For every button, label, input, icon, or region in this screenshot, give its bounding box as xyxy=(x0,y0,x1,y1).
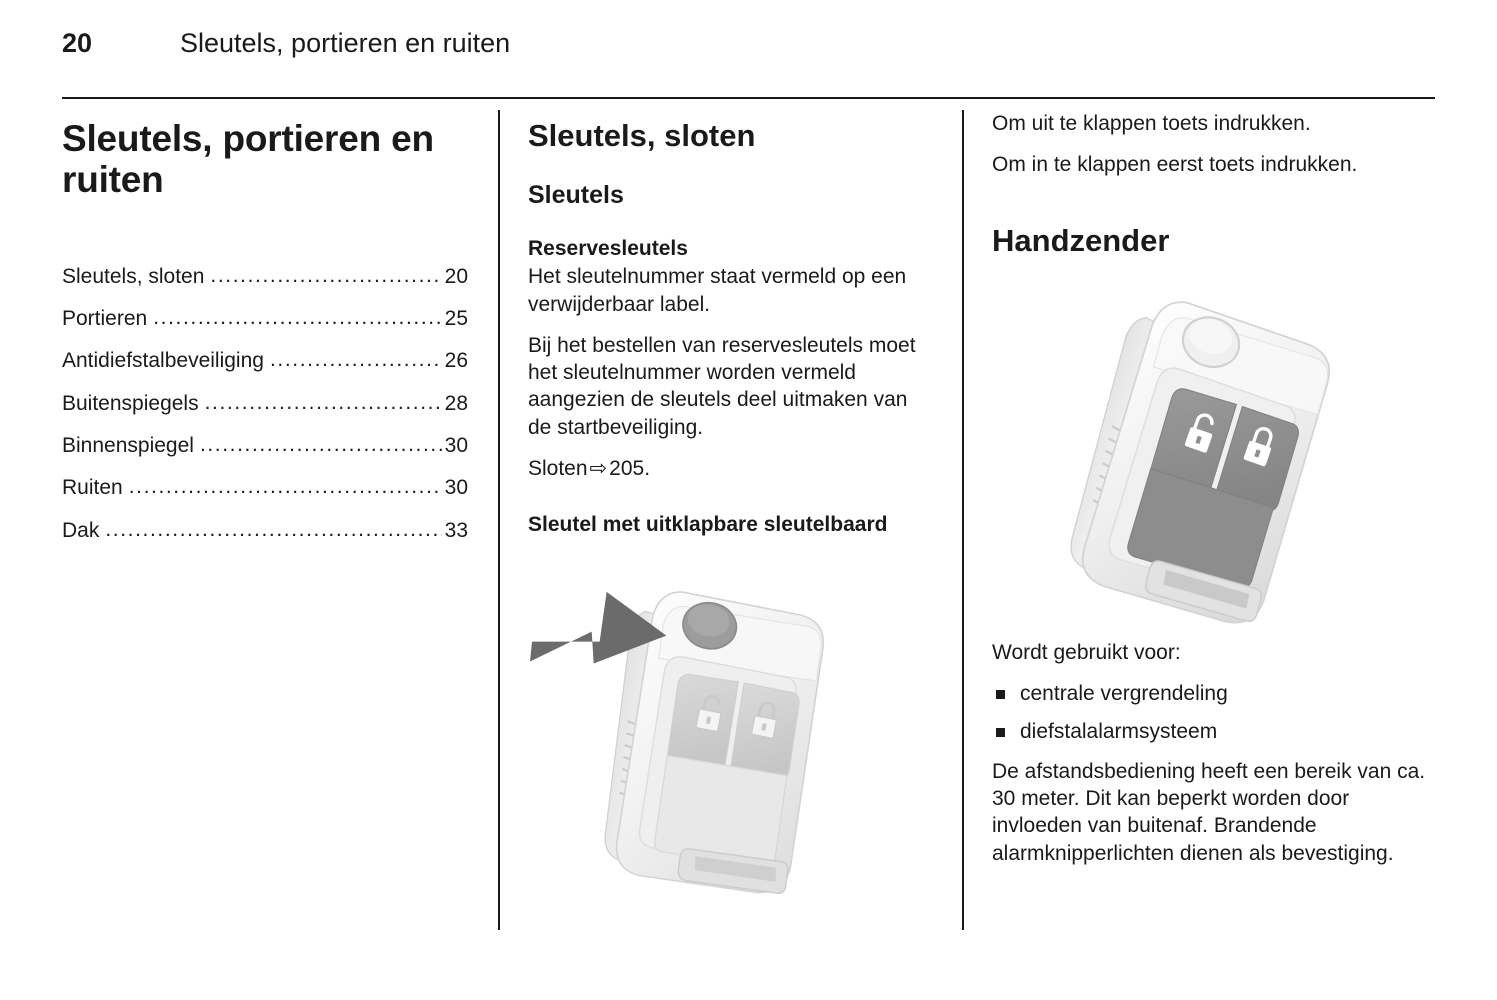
header-rule xyxy=(62,97,1435,99)
heading-sleutels: Sleutels xyxy=(528,180,932,210)
list-item-label: diefstalalarmsysteem xyxy=(1020,720,1217,743)
toc-page: 28 xyxy=(445,390,468,417)
heading-reservesleutels: Reservesleutels xyxy=(528,236,932,262)
toc-page: 25 xyxy=(445,305,468,332)
paragraph-uitklappen: Om uit te klappen toets indrukken. xyxy=(992,110,1435,137)
square-bullet-icon xyxy=(996,728,1005,737)
toc-leader: ........................................… xyxy=(153,304,441,331)
page-number: 20 xyxy=(62,30,180,57)
toc-page: 30 xyxy=(445,432,468,459)
toc-label: Antidiefstalbeveiliging xyxy=(62,347,264,374)
paragraph-sleutelnummer: Het sleutelnummer staat vermeld op een v… xyxy=(528,263,932,318)
toc-entry[interactable]: Buitenspiegels .........................… xyxy=(62,390,468,417)
toc-page: 26 xyxy=(445,347,468,374)
square-bullet-icon xyxy=(996,690,1005,699)
paragraph-inklappen: Om in te klappen eerst toets indrukken. xyxy=(992,151,1435,178)
key-fob-illustration-with-arrow xyxy=(528,556,932,894)
list-item: centrale vergrendeling xyxy=(992,680,1435,707)
column-left: Sleutels, portieren en ruiten Sleutels, … xyxy=(62,110,498,930)
figure-handzender xyxy=(992,280,1435,639)
toc-label: Sleutels, sloten xyxy=(62,263,204,290)
toc-label: Buitenspiegels xyxy=(62,390,199,417)
column-middle: Sleutels, sloten Sleutels Reservesleutel… xyxy=(498,110,962,930)
figure-key-with-callout xyxy=(528,556,932,894)
running-title: Sleutels, portieren en ruiten xyxy=(180,30,510,57)
toc-entry[interactable]: Binnenspiegel ..........................… xyxy=(62,432,468,459)
usage-intro: Wordt gebruikt voor: xyxy=(992,639,1435,666)
page-header: 20 Sleutels, portieren en ruiten xyxy=(62,30,1435,76)
paragraph-afstandsbediening: De afstandsbediening heeft een bereik va… xyxy=(992,758,1435,867)
toc-leader: ........................................… xyxy=(270,346,442,373)
cross-reference-sloten[interactable]: Sloten⇨205. xyxy=(528,455,932,482)
xref-label: Sloten xyxy=(528,457,588,480)
toc-page: 20 xyxy=(445,263,468,290)
column-right: Om uit te klappen toets indrukken. Om in… xyxy=(962,110,1435,930)
toc-page: 30 xyxy=(445,474,468,501)
heading-handzender: Handzender xyxy=(992,223,1435,259)
key-fob-remote-illustration xyxy=(992,280,1435,639)
toc-entry[interactable]: Sleutels, sloten .......................… xyxy=(62,263,468,290)
table-of-contents: Sleutels, sloten .......................… xyxy=(62,263,468,544)
toc-entry[interactable]: Dak ....................................… xyxy=(62,517,468,544)
toc-leader: ........................................… xyxy=(205,389,442,416)
paragraph-bestellen: Bij het bestellen van reservesleutels mo… xyxy=(528,332,932,441)
toc-label: Ruiten xyxy=(62,474,123,501)
list-item-label: centrale vergrendeling xyxy=(1020,682,1228,705)
usage-list: centrale vergrendeling diefstalalarmsyst… xyxy=(992,680,1435,746)
xref-page: 205. xyxy=(609,457,650,480)
page-columns: Sleutels, portieren en ruiten Sleutels, … xyxy=(62,110,1435,930)
toc-leader: ........................................… xyxy=(210,262,441,289)
toc-leader: ........................................… xyxy=(105,516,441,543)
toc-leader: ........................................… xyxy=(129,473,442,500)
section-title-sleutels-sloten: Sleutels, sloten xyxy=(528,118,932,154)
list-item: diefstalalarmsysteem xyxy=(992,718,1435,745)
heading-uitklapbare-sleutelbaard: Sleutel met uitklapbare sleutelbaard xyxy=(528,512,932,538)
arrow-right-icon: ⇨ xyxy=(588,457,610,480)
chapter-title: Sleutels, portieren en ruiten xyxy=(62,118,468,201)
toc-entry[interactable]: Ruiten .................................… xyxy=(62,474,468,501)
toc-entry[interactable]: Antidiefstalbeveiliging ................… xyxy=(62,347,468,374)
toc-page: 33 xyxy=(445,517,468,544)
toc-entry[interactable]: Portieren ..............................… xyxy=(62,305,468,332)
toc-label: Dak xyxy=(62,517,99,544)
toc-label: Portieren xyxy=(62,305,147,332)
toc-label: Binnenspiegel xyxy=(62,432,194,459)
toc-leader: ........................................… xyxy=(200,431,442,458)
